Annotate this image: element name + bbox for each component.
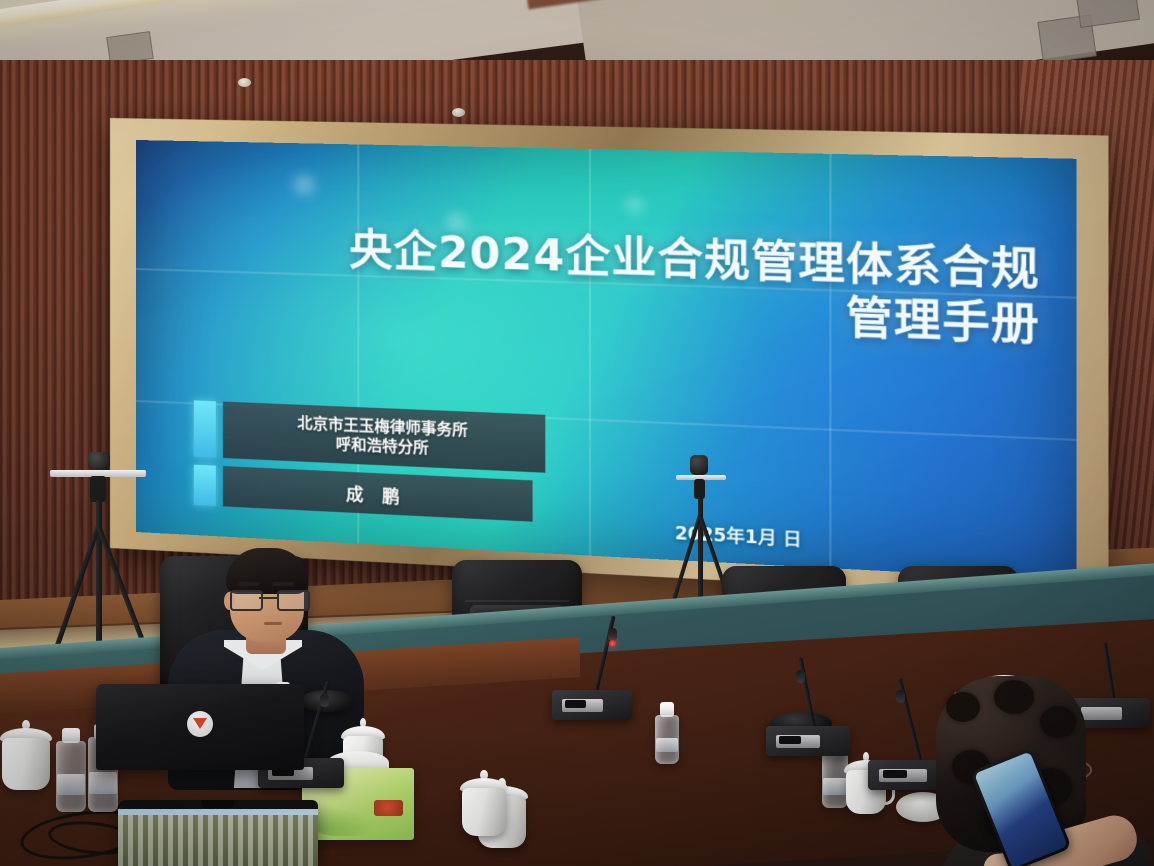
glasses-icon bbox=[230, 590, 306, 608]
bottle-body bbox=[655, 715, 679, 764]
bottle-body bbox=[56, 741, 86, 812]
glasses-lens bbox=[230, 590, 263, 611]
tripod-head bbox=[90, 476, 106, 502]
microphone-capsule bbox=[796, 670, 805, 683]
tripod-head bbox=[694, 479, 705, 499]
hair bbox=[226, 548, 308, 594]
ceiling-downlight bbox=[238, 78, 251, 87]
foreground-laptop[interactable] bbox=[118, 800, 318, 866]
glasses-bridge bbox=[259, 597, 277, 599]
tissue-box-leaf-art bbox=[311, 805, 378, 835]
organization-label-row: 北京市王玉梅律师事务所 呼和浩特分所 bbox=[194, 400, 545, 472]
microphone-button[interactable] bbox=[565, 700, 586, 708]
wallpaper-landscape bbox=[118, 815, 318, 866]
tissue-box-logo-icon bbox=[374, 800, 403, 816]
microphone-base bbox=[552, 690, 632, 720]
teacup bbox=[462, 774, 506, 836]
hair-curl bbox=[994, 680, 1034, 714]
mouth bbox=[264, 622, 282, 625]
camera-icon bbox=[88, 452, 110, 470]
microphone-button[interactable] bbox=[779, 736, 801, 744]
laptop-lid bbox=[96, 684, 304, 770]
bottle-label bbox=[57, 774, 85, 795]
led-video-wall[interactable]: 央企2024企业合规管理体系合规 管理手册 北京市王玉梅律师事务所 呼和浩特分所… bbox=[136, 140, 1077, 581]
presenter-laptop[interactable] bbox=[96, 684, 304, 770]
speaker-name: 成 鹏 bbox=[223, 466, 533, 522]
screen-glare bbox=[621, 195, 649, 214]
cup-body bbox=[2, 738, 50, 790]
slide-title: 央企2024企业合规管理体系合规 管理手册 bbox=[184, 219, 1040, 352]
water-bottle bbox=[655, 702, 679, 764]
camera-icon bbox=[690, 455, 708, 475]
hair-curl bbox=[946, 692, 980, 722]
bottle-body bbox=[822, 753, 848, 808]
hair-curl bbox=[1040, 706, 1076, 738]
water-bottle bbox=[56, 728, 86, 812]
microphone-led-icon bbox=[609, 640, 616, 647]
teacup bbox=[2, 724, 50, 790]
gooseneck-microphone[interactable] bbox=[552, 690, 632, 720]
laptop-brand-logo-icon bbox=[187, 711, 213, 737]
organization-label-box: 北京市王玉梅律师事务所 呼和浩特分所 bbox=[223, 402, 545, 473]
video-wall-panel-seams bbox=[136, 140, 1077, 581]
bottle-label bbox=[89, 772, 117, 795]
accent-bar-icon bbox=[194, 465, 216, 506]
microphone-capsule bbox=[320, 694, 329, 707]
conference-room-photo: 央企2024企业合规管理体系合规 管理手册 北京市王玉梅律师事务所 呼和浩特分所… bbox=[0, 0, 1154, 866]
gooseneck-microphone[interactable] bbox=[766, 726, 850, 756]
eyebrow bbox=[238, 582, 260, 586]
microphone-base bbox=[766, 726, 850, 756]
ceiling-downlight bbox=[452, 108, 465, 117]
screen-glare bbox=[287, 173, 322, 196]
speaker-label-row: 成 鹏 bbox=[194, 465, 533, 522]
eyebrow bbox=[272, 582, 294, 586]
chair-seam bbox=[465, 600, 569, 602]
bottle-label bbox=[823, 778, 847, 795]
bottle-label bbox=[656, 738, 678, 753]
cup-body bbox=[462, 788, 506, 836]
glasses-lens bbox=[277, 590, 310, 611]
accent-bar-icon bbox=[194, 400, 216, 457]
laptop-webcam-notch bbox=[202, 800, 234, 808]
laptop-screen[interactable] bbox=[118, 800, 318, 866]
